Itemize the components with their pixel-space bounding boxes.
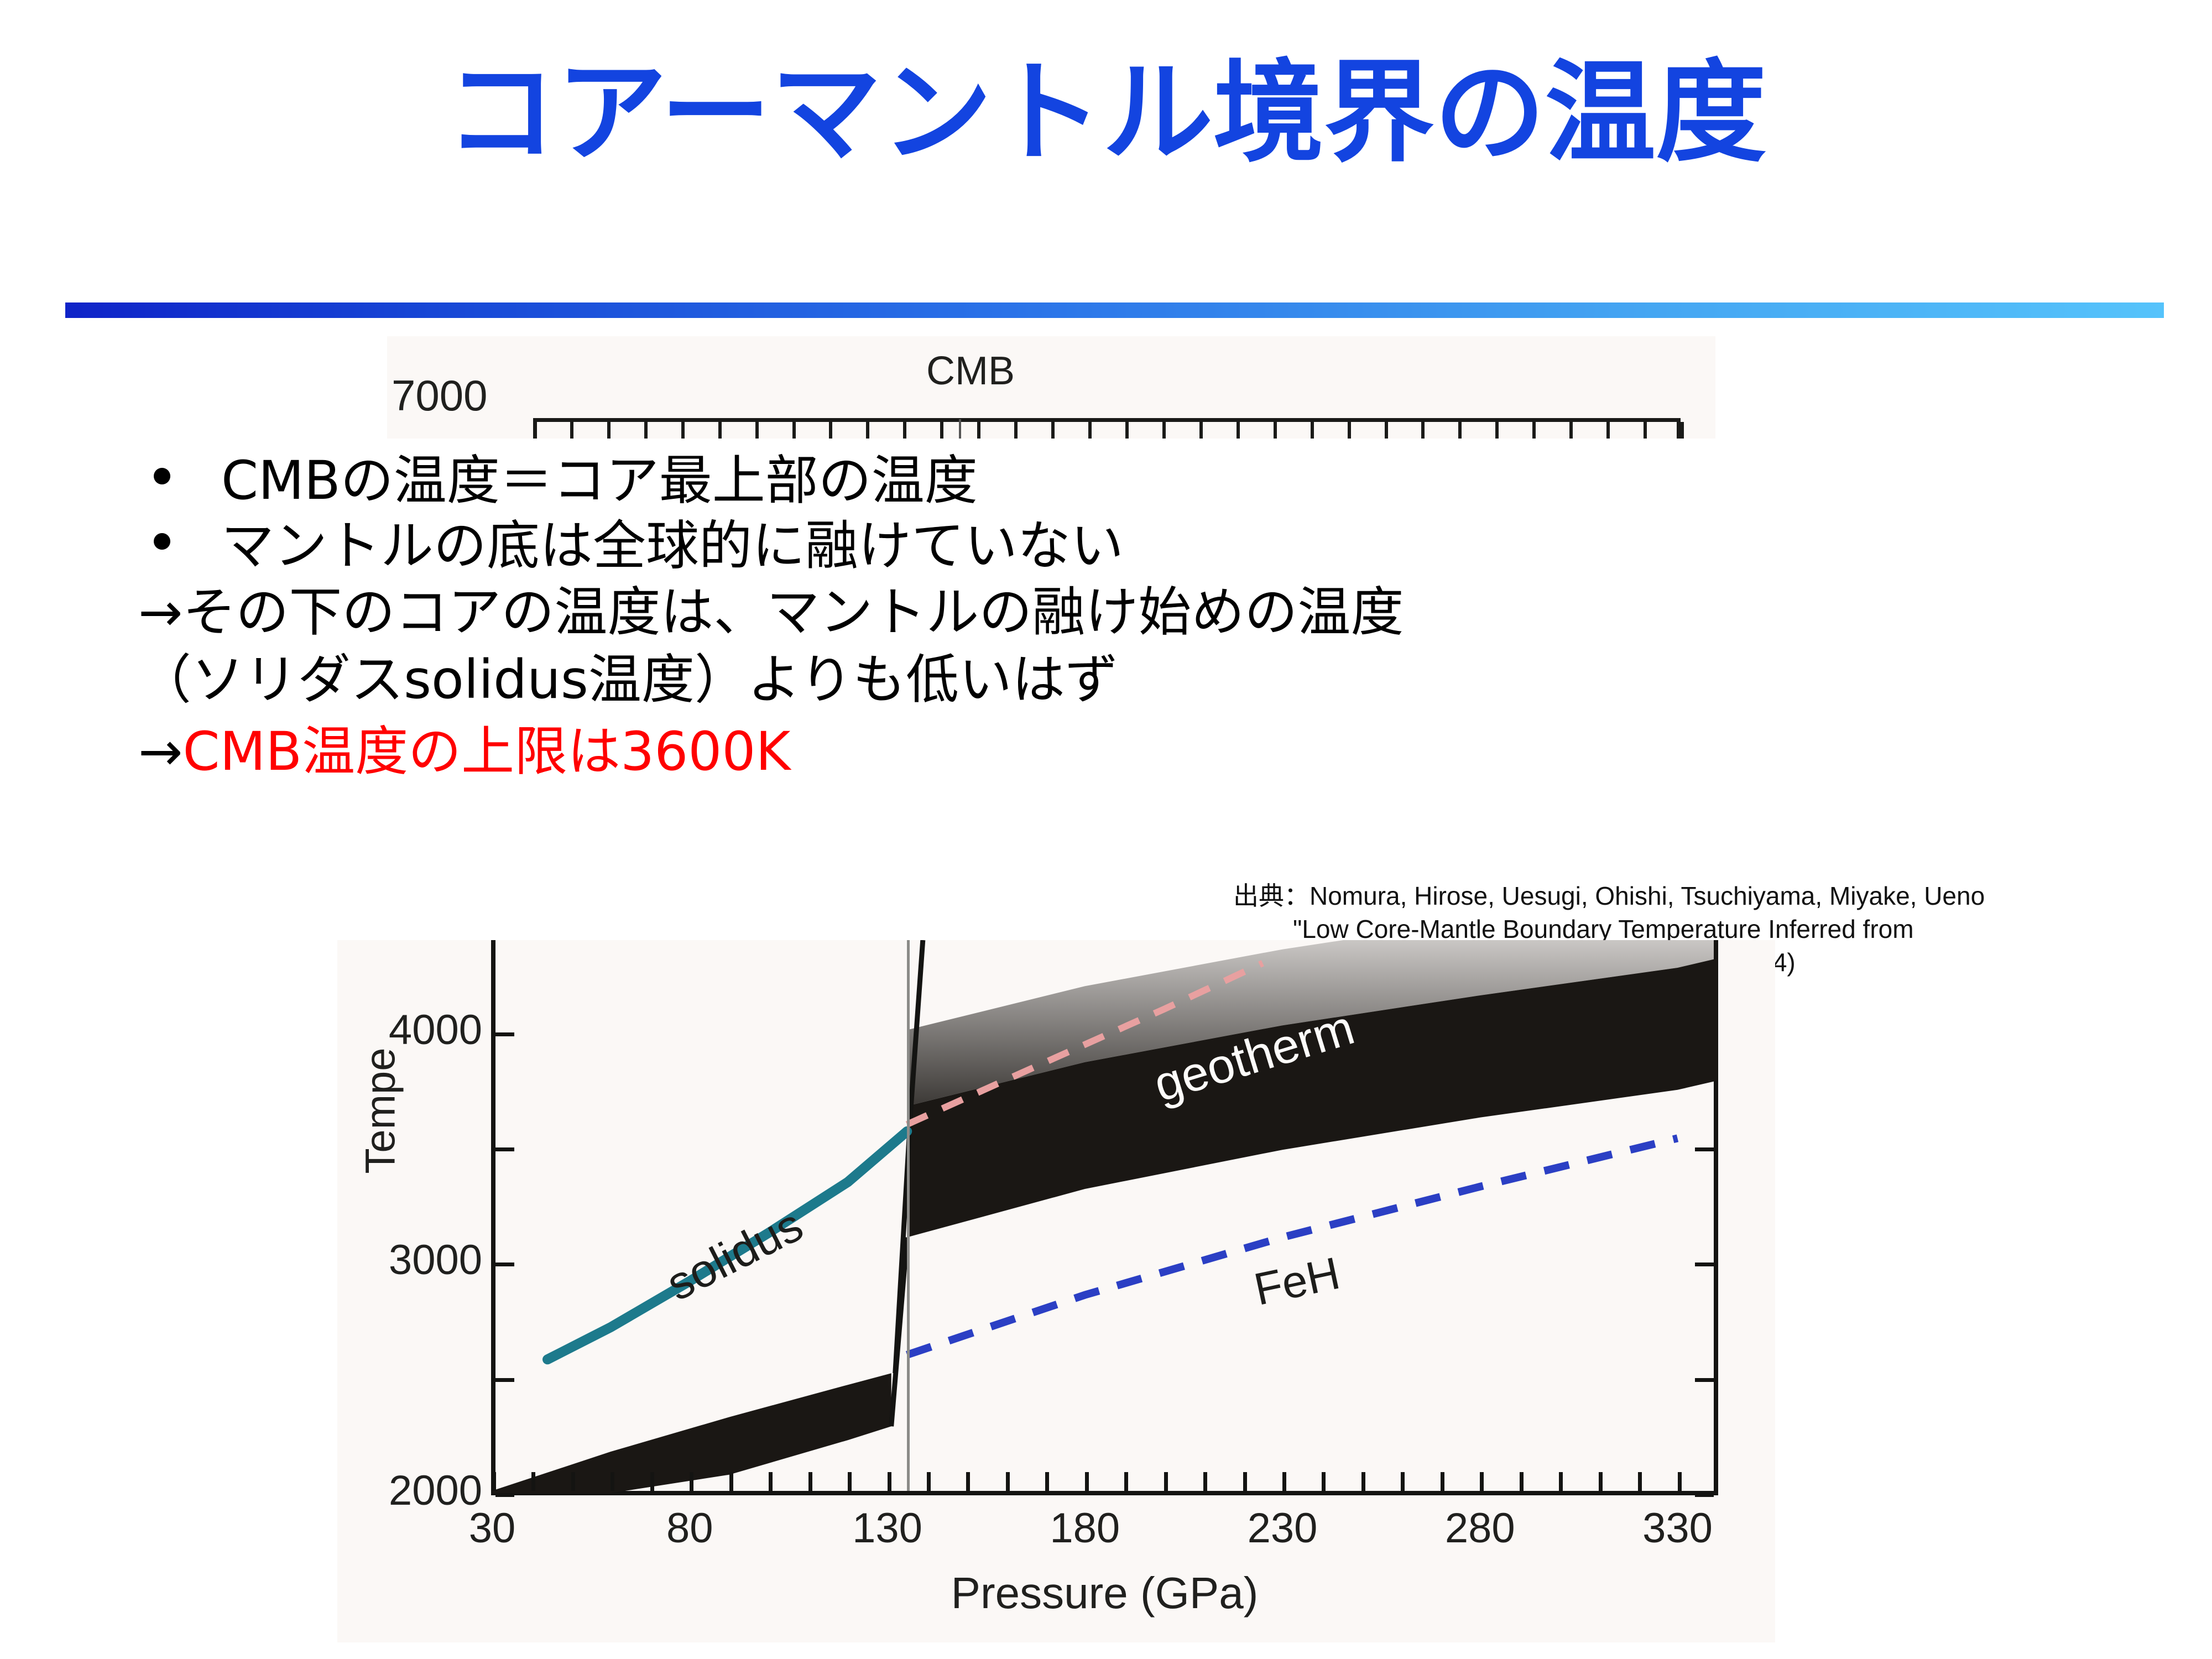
chart-top-tick xyxy=(829,422,832,439)
chart-top-tick xyxy=(1385,422,1388,439)
chart-x-tick-label: 80 xyxy=(634,1504,745,1552)
chart-x-tick xyxy=(1006,1472,1010,1491)
title-divider-rule xyxy=(65,302,2164,318)
chart-top-tick xyxy=(1348,422,1351,439)
chart-x-tick xyxy=(808,1472,812,1491)
chart-top-tick xyxy=(940,422,943,439)
chart-top-tick xyxy=(1162,422,1166,439)
chart-x-axis-label: Pressure (GPa) xyxy=(492,1568,1717,1619)
bullet-dot-icon xyxy=(154,468,170,484)
chart-x-tick-label: 180 xyxy=(1030,1504,1140,1552)
chart-x-tick xyxy=(927,1472,931,1491)
chart-top-ytick-7000: 7000 xyxy=(392,371,488,421)
chart-top-tick xyxy=(718,422,722,439)
bullet-item-2-label: マントルの底は全球的に融けていない xyxy=(221,515,1124,577)
chart-x-tick-label: 230 xyxy=(1227,1504,1338,1552)
chart-x-tick xyxy=(966,1472,970,1491)
slide-body: CMBの温度＝コア最上部の温度 マントルの底は全球的に融けていない →その下のコ… xyxy=(138,448,2074,785)
chart-x-tick xyxy=(650,1472,654,1491)
chart-top-tick xyxy=(1274,422,1277,439)
chart-x-tick xyxy=(1480,1472,1484,1491)
chart-top-tick xyxy=(533,422,536,439)
chart-x-tick-label: 30 xyxy=(437,1504,547,1552)
chart-x-tick xyxy=(1164,1472,1168,1491)
page-title: コアーマントル境界の温度 xyxy=(0,58,2212,169)
chart-top-tick xyxy=(1532,422,1536,439)
chart-cmb-marker-line xyxy=(907,940,910,1491)
chart-top-tick xyxy=(1458,422,1462,439)
chart-top-tick xyxy=(903,422,906,439)
chart-x-tick xyxy=(1678,1472,1682,1491)
chart-top-axis-right-cap xyxy=(1677,418,1681,439)
chart-plot-area: solidus geotherm FeH xyxy=(492,940,1717,1493)
chart-top-tick xyxy=(1311,422,1314,439)
chart-top-tick xyxy=(1569,422,1573,439)
chart-top-tick xyxy=(1237,422,1240,439)
bullet-item-1: CMBの温度＝コア最上部の温度 xyxy=(138,448,2074,513)
chart-top-tick xyxy=(977,422,980,439)
body-line-4: （ソリダスsolidus温度）よりも低いはず xyxy=(138,646,2074,713)
bullet-item-1-label: CMBの温度＝コア最上部の温度 xyxy=(221,450,978,512)
chart-x-tick xyxy=(1599,1472,1603,1491)
chart-top-fragment: 7000 CMB xyxy=(387,336,1715,439)
conclusion-line: →CMB温度の上限は3600K xyxy=(138,718,2074,785)
chart-x-tick xyxy=(888,1472,891,1491)
chart-x-tick xyxy=(1124,1472,1128,1491)
chart-x-tick xyxy=(611,1472,614,1491)
chart-x-tick xyxy=(1638,1472,1642,1491)
chart-x-tick xyxy=(531,1472,535,1491)
chart-top-tick xyxy=(1125,422,1129,439)
chart-x-tick xyxy=(729,1472,733,1491)
chart-top-tick xyxy=(1495,422,1499,439)
bullet-dot-icon xyxy=(154,533,170,550)
chart-top-tick xyxy=(1681,422,1684,439)
chart-top-tick xyxy=(866,422,869,439)
chart-top-tick xyxy=(755,422,759,439)
chart-top-tick xyxy=(607,422,611,439)
chart-x-tick xyxy=(769,1472,773,1491)
phase-diagram-chart: Tempe 200030004000 xyxy=(337,940,1775,1642)
chart-x-tick xyxy=(690,1472,693,1491)
chart-x-tick xyxy=(1322,1472,1326,1491)
chart-top-cmb-marker xyxy=(959,419,961,439)
chart-curves-svg xyxy=(492,940,1717,1493)
chart-x-tick xyxy=(1045,1472,1049,1491)
chart-top-tick xyxy=(1421,422,1425,439)
chart-x-tick xyxy=(1203,1472,1207,1491)
chart-top-tick xyxy=(570,422,573,439)
chart-x-tick-label: 280 xyxy=(1425,1504,1535,1552)
chart-x-tick-label: 330 xyxy=(1623,1504,1733,1552)
chart-top-tick xyxy=(1088,422,1092,439)
chart-x-tick xyxy=(1441,1472,1444,1491)
chart-top-tick xyxy=(1051,422,1055,439)
chart-x-tick xyxy=(492,1472,496,1491)
chart-top-axis-line xyxy=(533,418,1681,422)
bullet-item-2: マントルの底は全球的に融けていない xyxy=(138,513,2074,578)
chart-x-tick xyxy=(848,1472,852,1491)
conclusion-arrow-icon: → xyxy=(138,721,182,782)
chart-top-tick xyxy=(1199,422,1203,439)
chart-x-tick-label: 130 xyxy=(832,1504,943,1552)
conclusion-highlight-text: CMB温度の上限は3600K xyxy=(182,721,790,782)
chart-x-tick xyxy=(1520,1472,1524,1491)
chart-x-tick xyxy=(1243,1472,1247,1491)
chart-top-tick xyxy=(1606,422,1610,439)
chart-top-tick xyxy=(792,422,796,439)
chart-y-tick-label: 3000 xyxy=(338,1236,482,1284)
chart-x-tick xyxy=(1559,1472,1563,1491)
chart-top-tick xyxy=(681,422,685,439)
chart-x-tick xyxy=(1282,1472,1286,1491)
chart-x-tick xyxy=(571,1472,575,1491)
chart-top-tick xyxy=(1644,422,1647,439)
chart-x-tick xyxy=(1085,1472,1089,1491)
chart-x-tick xyxy=(1361,1472,1365,1491)
chart-top-cmb-label: CMB xyxy=(926,348,1015,394)
citation-line-1: 出典：Nomura, Hirose, Uesugi, Ohishi, Tsuch… xyxy=(1233,879,2206,912)
body-line-3: →その下のコアの温度は、マントルの融け始めの温度 xyxy=(138,578,2074,646)
chart-x-tick xyxy=(1401,1472,1405,1491)
chart-top-tick xyxy=(1014,422,1018,439)
chart-top-tick xyxy=(644,422,648,439)
chart-y-tick-label: 4000 xyxy=(338,1006,482,1054)
